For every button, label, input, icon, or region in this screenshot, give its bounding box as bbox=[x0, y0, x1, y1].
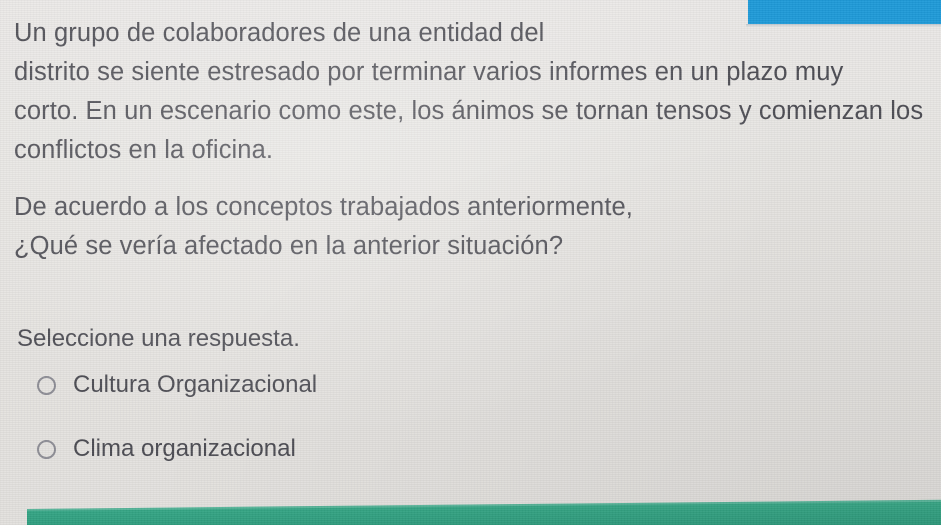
question-prompt-line-1: De acuerdo a los conceptos trabajados an… bbox=[14, 188, 935, 227]
question-stem: Un grupo de colaboradores de una entidad… bbox=[0, 0, 941, 170]
answer-instruction: Seleccione una respuesta. bbox=[0, 266, 941, 354]
answer-option-cultura-organizacional[interactable]: Cultura Organizacional bbox=[0, 354, 941, 400]
question-prompt-line-2: ¿Qué se vería afectado en la anterior si… bbox=[14, 227, 935, 266]
question-content: Un grupo de colaboradores de una entidad… bbox=[0, 0, 941, 464]
quiz-screen: Un grupo de colaboradores de una entidad… bbox=[0, 0, 941, 525]
answer-options-list: Cultura Organizacional Clima organizacio… bbox=[0, 354, 941, 464]
question-prompt: De acuerdo a los conceptos trabajados an… bbox=[0, 170, 941, 266]
radio-button-icon[interactable] bbox=[37, 376, 56, 395]
answer-option-label: Cultura Organizacional bbox=[73, 370, 317, 400]
answer-option-label: Clima organizacional bbox=[73, 434, 296, 464]
radio-button-icon[interactable] bbox=[37, 440, 56, 459]
answer-option-clima-organizacional[interactable]: Clima organizacional bbox=[0, 400, 941, 464]
